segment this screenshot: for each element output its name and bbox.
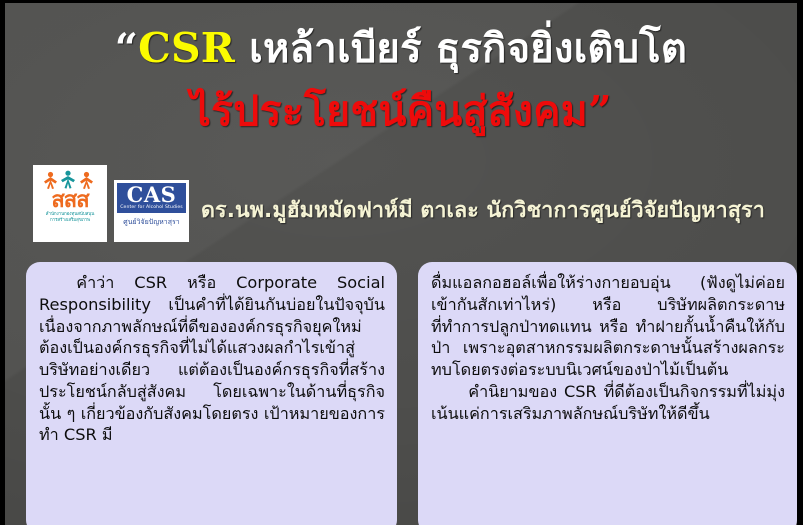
thaihealth-wordmark: สสส: [51, 190, 88, 212]
right-column-paragraph-2: คำนิยามของ CSR ที่ดีต้องเป็นกิจกรรมที่ไม…: [431, 381, 785, 425]
title-csr-highlight: CSR: [138, 24, 235, 72]
body-text-panel-right: ดื่มแอลกอฮอล์เพื่อให้ร่างกายอบอุ่น (ฟังด…: [418, 262, 797, 525]
left-column-paragraph: คำว่า CSR หรือ Corporate Social Responsi…: [39, 272, 385, 446]
title-line-2: ไร้ประโยชน์คืนสู่สังคม”: [5, 90, 797, 133]
title-line-1-text: เหล้าเบียร์ ธุรกิจยิ่งเติบโต: [235, 26, 687, 72]
cas-thai-name: ศูนย์วิจัยปัญหาสุรา: [123, 217, 179, 228]
logo-row: สสส สำนักงานกองทุนสนับสนุน การสร้างเสริม…: [33, 165, 189, 242]
cas-fullname: Center for Alcohol Studies: [117, 205, 186, 211]
thaihealth-subtitle-line-2: การสร้างเสริมสุขภาพ: [50, 218, 90, 224]
closing-quote: ”: [588, 87, 612, 135]
title-line-2-text: ไร้ประโยชน์คืนสู่สังคม: [190, 87, 588, 135]
cas-acronym: CAS: [117, 184, 186, 205]
right-column-paragraph-1: ดื่มแอลกอฮอล์เพื่อให้ร่างกายอบอุ่น (ฟังด…: [431, 272, 785, 381]
slide-title-block: “CSR เหล้าเบียร์ ธุรกิจยิ่งเติบโต ไร้ประ…: [5, 27, 797, 133]
cas-blue-band: CAS Center for Alcohol Studies: [117, 183, 186, 213]
opening-quote: “: [115, 25, 138, 72]
cas-logo: CAS Center for Alcohol Studies ศูนย์วิจั…: [114, 180, 189, 242]
thaihealth-star-figures-icon: [41, 169, 99, 189]
body-text-panel-left: คำว่า CSR หรือ Corporate Social Responsi…: [26, 262, 397, 525]
presentation-slide: “CSR เหล้าเบียร์ ธุรกิจยิ่งเติบโต ไร้ประ…: [0, 0, 803, 525]
thaihealth-logo: สสส สำนักงานกองทุนสนับสนุน การสร้างเสริม…: [33, 165, 107, 242]
title-line-1: “CSR เหล้าเบียร์ ธุรกิจยิ่งเติบโต: [5, 27, 797, 70]
speaker-credit: ดร.นพ.มูฮัมหมัดฟาห์มี ตาเละ นักวิชาการศู…: [201, 193, 765, 227]
